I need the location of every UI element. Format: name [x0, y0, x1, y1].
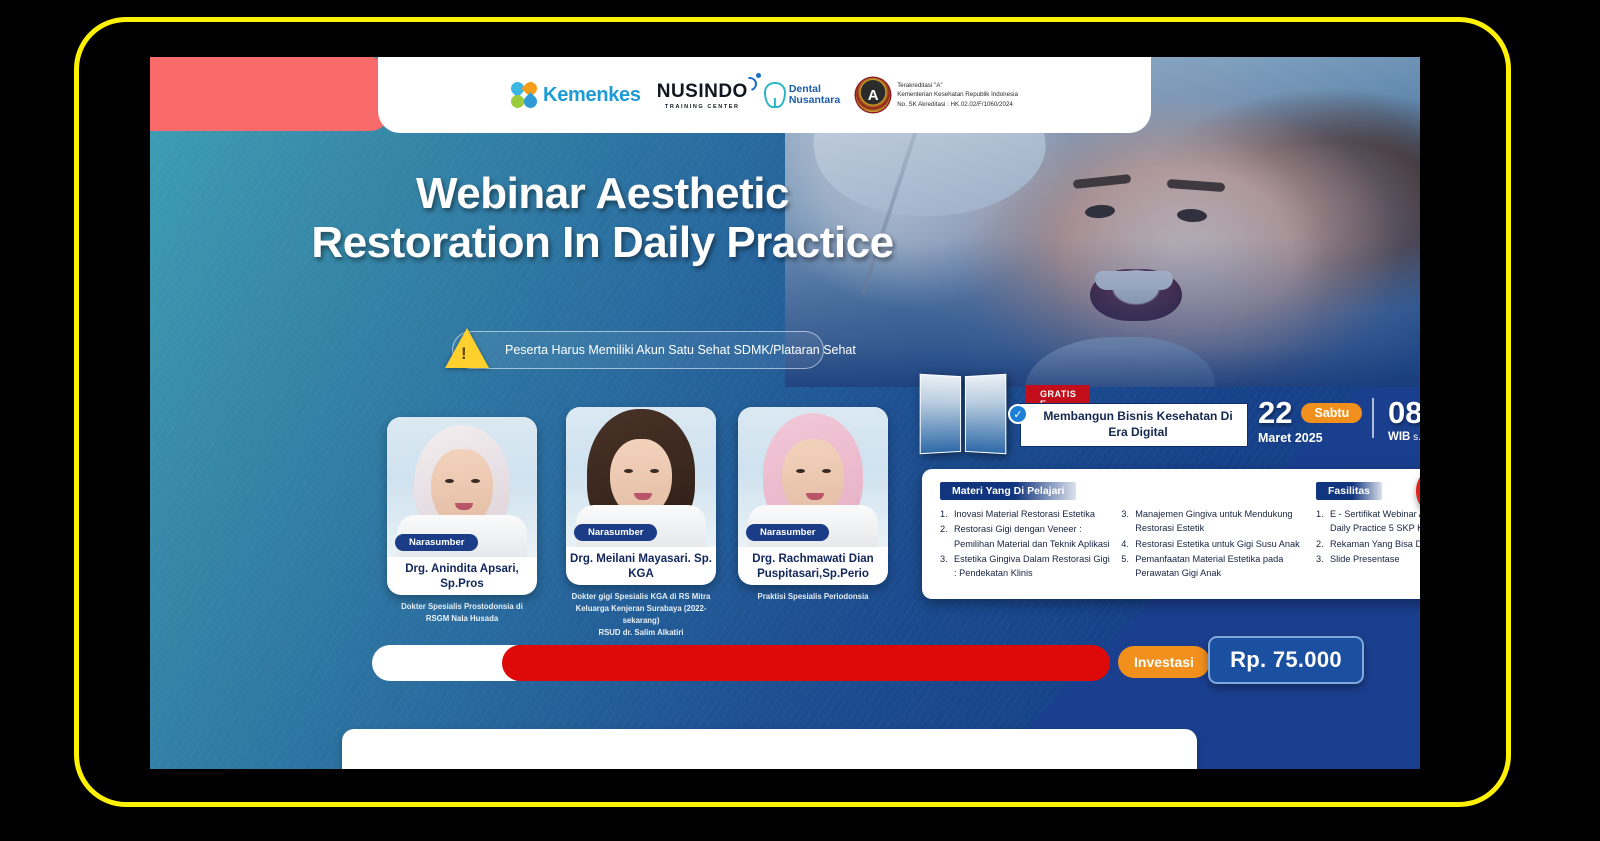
accreditation-block: A Terakreditasi "A" Kementerian Kesehata…	[856, 78, 1018, 112]
dental-line-2: Nusantara	[789, 95, 840, 106]
speaker-photo-card: Narasumber Drg. Rachmawati Dian Puspitas…	[738, 407, 888, 585]
date-row: 22 Sabtu	[1258, 397, 1362, 428]
speaker-role: Praktisi Spesialis Periodonsia	[738, 591, 888, 603]
dental-nusantara-wordmark: Dental Nusantara	[789, 84, 840, 106]
event-time: 08.30 WIB s.d selesai	[1388, 397, 1420, 443]
ebook-title: Membangun Bisnis Kesehatan Di Era Digita…	[1039, 409, 1237, 440]
bottom-white-panel	[342, 729, 1197, 769]
speaker-name: Drg. Anindita Apsari, Sp.Pros	[387, 562, 537, 591]
list-item: Slide Presentase	[1316, 552, 1420, 566]
speaker-name: Drg. Meilani Mayasari. Sp. KGA	[566, 552, 716, 581]
warning-triangle-icon	[445, 328, 489, 368]
check-icon: ✓	[1008, 404, 1028, 424]
speaker-eye-right	[822, 469, 831, 473]
date-number: 22	[1258, 397, 1292, 428]
poster-title: Webinar Aesthetic Restoration In Daily P…	[150, 169, 1055, 268]
ebook-title-box: Membangun Bisnis Kesehatan Di Era Digita…	[1020, 403, 1248, 447]
webinar-poster: Kemenkes NUSINDO TRAINING CENTER Dental …	[150, 57, 1420, 769]
speaker-eye-right	[471, 479, 480, 483]
title-line-2: Restoration In Daily Practice	[150, 218, 1055, 267]
speaker-role-line-1: Dokter gigi Spesialis KGA di RS Mitra	[566, 591, 716, 603]
narasumber-badge: Narasumber	[574, 524, 657, 541]
speaker-role-line-2: Keluarga Kenjeran Surabaya (2022-sekaran…	[566, 603, 716, 627]
month-year: Maret 2025	[1258, 431, 1362, 445]
price-box: Rp. 75.000	[1208, 636, 1364, 684]
list-item: Rekaman Yang Bisa Di Ulang Kembali	[1316, 537, 1420, 551]
speaker-role-line-3: RSUD dr. Salim Alkatiri	[566, 627, 716, 639]
investasi-badge: Investasi	[1118, 646, 1210, 678]
speaker-eye-left	[445, 479, 454, 483]
list-item: Inovasi Material Restorasi Estetika	[940, 507, 1111, 521]
speaker-eye-left	[624, 469, 633, 473]
nusindo-tagline: TRAINING CENTER	[657, 104, 748, 110]
requirement-banner: ! Peserta Harus Memiliki Akun Satu Sehat…	[452, 331, 824, 369]
kemenkes-mark-icon	[511, 82, 537, 108]
speaker-eye-left	[796, 469, 805, 473]
book-page-right	[965, 374, 1006, 454]
fasilitas-list: E - Sertifikat Webinar Aesthetic Restora…	[1316, 507, 1420, 566]
speaker-role-line-1: Praktisi Spesialis Periodonsia	[738, 591, 888, 603]
book-page-left	[920, 374, 961, 454]
accreditation-seal-icon: A	[856, 78, 890, 112]
fasilitas-label: Fasilitas	[1316, 482, 1382, 500]
speaker-role-line-2: RSGM Nala Husada	[387, 613, 537, 625]
list-item: Restorasi Gigi dengan Veneer : Pemilihan…	[940, 522, 1111, 551]
info-panel: Materi Yang Di Pelajari Inovasi Material…	[922, 469, 1420, 599]
materi-list-b: Manajemen Gingiva untuk Mendukung Restor…	[1121, 507, 1304, 581]
materi-label: Materi Yang Di Pelajari	[940, 482, 1076, 500]
accreditation-text: Terakreditasi "A" Kementerian Kesehatan …	[897, 81, 1018, 110]
nusindo-wordmark: NUSINDO	[657, 81, 748, 103]
ebook-cover-graphic	[920, 375, 1006, 453]
nusindo-dot-icon	[756, 73, 761, 78]
accreditation-line-3: No. SK Akreditasi : HK.02.02/F/1060/2024	[897, 100, 1018, 110]
tooth-icon	[764, 82, 786, 108]
speaker-name: Drg. Rachmawati Dian Puspitasari,Sp.Peri…	[738, 552, 888, 581]
speaker-role: Dokter gigi Spesialis KGA di RS Mitra Ke…	[566, 591, 716, 639]
event-date: 22 Sabtu Maret 2025	[1258, 397, 1362, 445]
time-note-row: WIB s.d selesai	[1388, 431, 1420, 443]
sponsor-logo-bar: Kemenkes NUSINDO TRAINING CENTER Dental …	[378, 57, 1151, 133]
list-item: Restorasi Estetika untuk Gigi Susu Anak	[1121, 537, 1304, 551]
speaker-photo-card: Narasumber Drg. Meilani Mayasari. Sp. KG…	[566, 407, 716, 585]
requirement-text: Peserta Harus Memiliki Akun Satu Sehat S…	[505, 343, 856, 357]
speaker-card-3: Narasumber Drg. Rachmawati Dian Puspitas…	[738, 407, 888, 603]
accreditation-line-2: Kementerian Kesehatan Republik Indonesia	[897, 90, 1018, 100]
fasilitas-column: Fasilitas E - Sertifikat Webinar Aesthet…	[1310, 469, 1420, 599]
narasumber-badge: Narasumber	[395, 534, 478, 551]
speaker-eye-right	[650, 469, 659, 473]
list-item: Pemanfaatan Material Estetika pada Peraw…	[1121, 552, 1304, 581]
materi-column: Materi Yang Di Pelajari Inovasi Material…	[922, 469, 1310, 599]
vertical-divider	[1372, 398, 1374, 438]
red-bar-decor	[502, 645, 1110, 681]
time-value: 08.30	[1388, 397, 1420, 428]
time-note: s.d selesai	[1413, 432, 1420, 443]
dental-nusantara-logo: Dental Nusantara	[764, 82, 840, 108]
kemenkes-wordmark: Kemenkes	[543, 84, 641, 107]
title-line-1: Webinar Aesthetic	[150, 169, 1055, 218]
speaker-role-line-1: Dokter Spesialis Prostodonsia di	[387, 601, 537, 613]
list-item: Manajemen Gingiva untuk Mendukung Restor…	[1121, 507, 1304, 536]
materi-list-a: Inovasi Material Restorasi Estetika Rest…	[940, 507, 1111, 581]
materi-lists: Inovasi Material Restorasi Estetika Rest…	[940, 507, 1304, 581]
speaker-card-2: Narasumber Drg. Meilani Mayasari. Sp. KG…	[566, 407, 716, 639]
time-zone: WIB	[1388, 431, 1410, 443]
list-item: Estetika Gingiva Dalam Restorasi Gigi : …	[940, 552, 1111, 581]
accreditation-line-1: Terakreditasi "A"	[897, 81, 1018, 91]
narasumber-badge: Narasumber	[746, 524, 829, 541]
speaker-photo-card: Narasumber Drg. Anindita Apsari, Sp.Pros	[387, 417, 537, 595]
kemenkes-logo: Kemenkes	[511, 82, 641, 108]
day-badge: Sabtu	[1301, 403, 1362, 423]
header-accent-block	[150, 57, 390, 131]
speaker-card-1: Narasumber Drg. Anindita Apsari, Sp.Pros…	[387, 417, 537, 625]
nusindo-logo: NUSINDO TRAINING CENTER	[657, 81, 748, 110]
list-item: E - Sertifikat Webinar Aesthetic Restora…	[1316, 507, 1420, 536]
speaker-role: Dokter Spesialis Prostodonsia di RSGM Na…	[387, 601, 537, 625]
warning-exclamation: !	[461, 344, 467, 364]
